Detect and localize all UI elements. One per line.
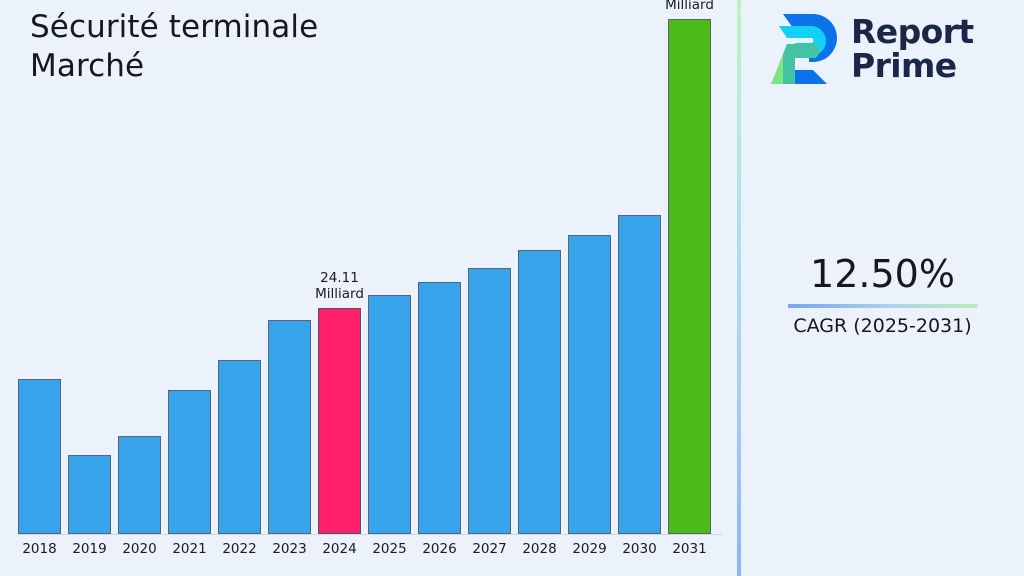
bar-2028[interactable] xyxy=(518,250,561,534)
bar-2025[interactable] xyxy=(368,295,411,534)
bar-2024[interactable] xyxy=(318,308,361,534)
bar-2022[interactable] xyxy=(218,360,261,534)
brand-name: Report Prime xyxy=(851,15,974,83)
bar-2018[interactable] xyxy=(18,379,61,534)
chart-page: Sécurité terminale Marché 20182019202020… xyxy=(0,0,1024,576)
bar-chart-plot: 20182019202020212022202324.11 Milliard20… xyxy=(0,0,738,576)
chart-panel: Sécurité terminale Marché 20182019202020… xyxy=(0,0,738,576)
cagr-value: 12.50% xyxy=(741,252,1024,296)
bar-2023[interactable] xyxy=(268,320,311,534)
bar-2029[interactable] xyxy=(568,235,611,534)
cagr-block: 12.50% CAGR (2025-2031) xyxy=(741,252,1024,338)
bar-2030[interactable] xyxy=(618,215,661,534)
bar-value-label-2031: 54.99 Milliard xyxy=(635,0,745,13)
bar-2021[interactable] xyxy=(168,390,211,534)
report-prime-logo-icon xyxy=(769,10,841,88)
x-axis-tick-2031: 2031 xyxy=(660,541,720,557)
brand-logo: Report Prime xyxy=(769,10,974,88)
cagr-caption: CAGR (2025-2031) xyxy=(741,314,1024,338)
bar-2031[interactable] xyxy=(668,19,711,534)
bar-2027[interactable] xyxy=(468,268,511,534)
brand-panel: Report Prime 12.50% CAGR (2025-2031) xyxy=(741,0,1024,576)
bar-2026[interactable] xyxy=(418,282,461,534)
bar-2019[interactable] xyxy=(68,455,111,534)
cagr-divider-rule xyxy=(788,304,978,308)
x-axis-line xyxy=(18,534,722,535)
bar-2020[interactable] xyxy=(118,436,161,534)
